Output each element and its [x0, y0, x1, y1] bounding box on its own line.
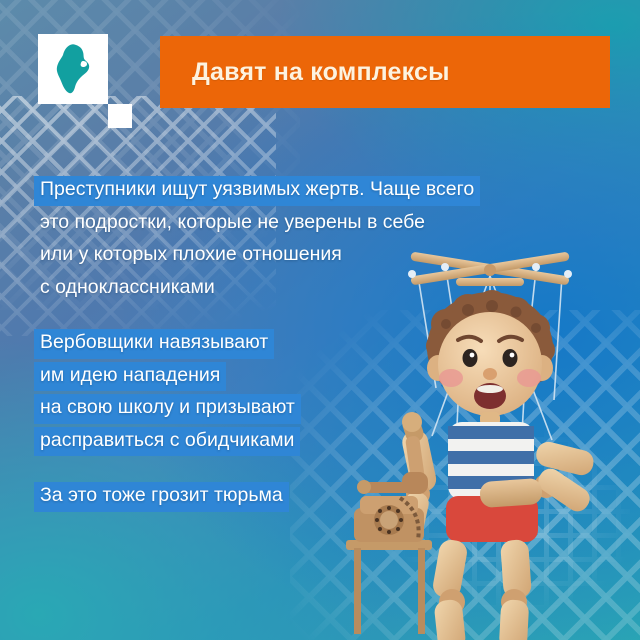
- text-line: с одноклассниками: [34, 274, 221, 304]
- paragraph-1: Преступники ищут уязвимых жертв. Чаще вс…: [34, 176, 554, 303]
- text-line: или у которых плохие отношения: [34, 241, 348, 271]
- text-line: на свою школу и призывают: [34, 394, 301, 424]
- text-line: им идею нападения: [34, 362, 226, 392]
- logo-badge: [38, 34, 108, 104]
- puppet-leg-right: [499, 539, 532, 640]
- text-line: Вербовщики навязывают: [34, 329, 274, 359]
- text-line: расправиться с обидчиками: [34, 427, 300, 457]
- body-text: Преступники ищут уязвимых жертв. Чаще вс…: [34, 176, 554, 512]
- puppet-leg-left: [431, 538, 469, 640]
- text-line: Преступники ищут уязвимых жертв. Чаще вс…: [34, 176, 480, 206]
- text-line: это подростки, которые не уверены в себе: [34, 209, 431, 239]
- paragraph-2: Вербовщики навязывают им идею нападения …: [34, 329, 554, 456]
- logo-square-accent: [108, 104, 132, 128]
- telephone-table: [346, 540, 432, 634]
- page-title: Давят на комплексы: [160, 58, 450, 87]
- paragraph-3: За это тоже грозит тюрьма: [34, 482, 554, 512]
- region-map-icon: [50, 43, 96, 95]
- text-line: За это тоже грозит тюрьма: [34, 482, 289, 512]
- header-banner: Давят на комплексы: [160, 36, 610, 108]
- infographic-card: Давят на комплексы: [0, 0, 640, 640]
